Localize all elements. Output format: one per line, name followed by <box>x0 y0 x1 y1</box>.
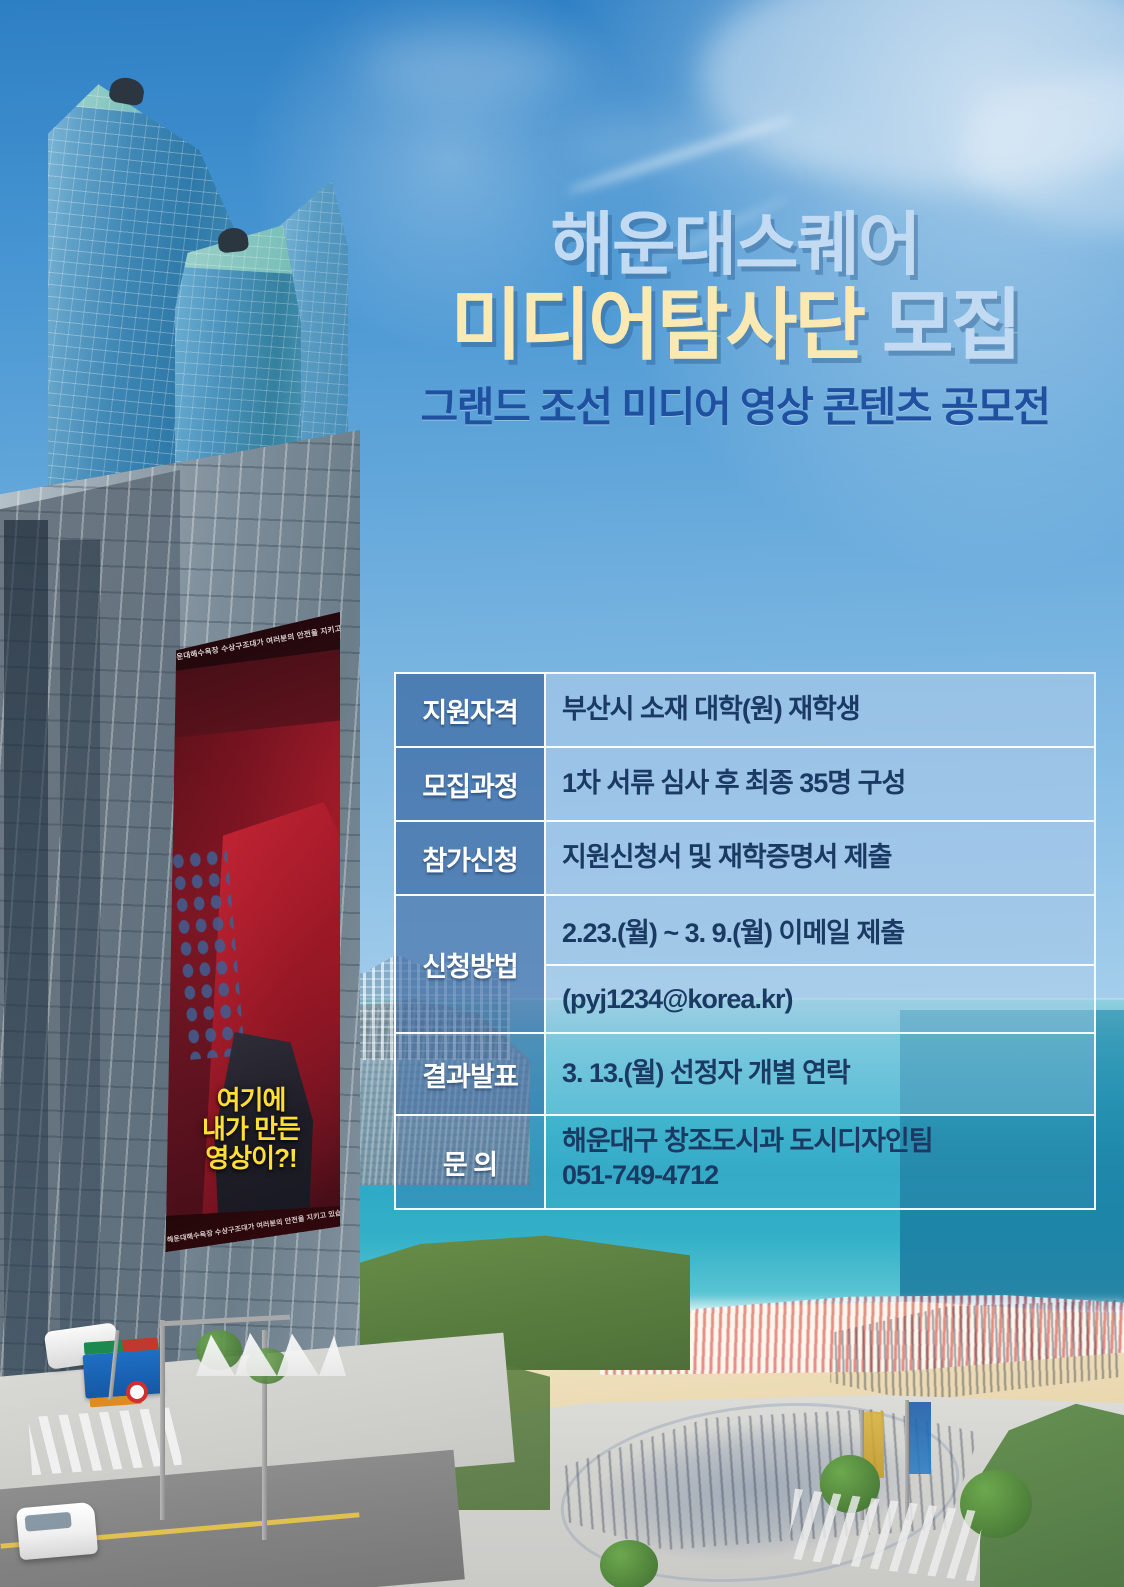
value-line: 지원신청서 및 재학증명서 제출 <box>562 841 1094 875</box>
value-line: 1차 서류 심사 후 최종 35명 구성 <box>562 767 1094 801</box>
white-van <box>16 1502 98 1561</box>
table-row-value: 부산시 소재 대학(원) 재학생 <box>546 674 1094 746</box>
headline-accent-text: 미디어탐사단 <box>451 281 864 369</box>
headline-subtitle: 그랜드 조선 미디어 영상 콘텐츠 공모전 <box>370 373 1100 433</box>
value-line-phone: 051-749-4712 <box>562 1159 1094 1193</box>
cta-line-2: 내가 만든 <box>160 1115 342 1144</box>
poster-headline: 해운대스퀘어 미디어탐사단 모집 그랜드 조선 미디어 영상 콘텐츠 공모전 <box>370 208 1100 433</box>
table-row-label: 지원자격 <box>396 674 546 746</box>
building-window-column <box>60 540 100 1400</box>
value-line: 2.23.(월) ~ 3. 9.(월) 이메일 제출 <box>546 896 1094 964</box>
poster-root: GUARD 해운대해수욕장 수상구조대가 여러분의 안전을 지키고 있습니다 해… <box>0 0 1124 1587</box>
table-row-value: 1차 서류 심사 후 최종 35명 구성 <box>546 748 1094 820</box>
table-row-label: 참가신청 <box>396 822 546 894</box>
table-row: 모집과정 1차 서류 심사 후 최종 35명 구성 <box>396 748 1094 822</box>
value-line: 해운대구 창조도시과 도시디자인팀 <box>562 1125 1094 1159</box>
cta-line-3: 영상이?! <box>160 1144 342 1173</box>
value-line: 3. 13.(월) 선정자 개별 연락 <box>562 1057 1094 1091</box>
table-row-label: 문 의 <box>396 1116 546 1208</box>
table-row-value: 3. 13.(월) 선정자 개별 연락 <box>546 1034 1094 1114</box>
headline-line-1: 해운대스퀘어 <box>370 208 1100 281</box>
street-light-pole <box>160 1320 165 1520</box>
building-window-column <box>4 520 48 1400</box>
headline-line-2: 미디어탐사단 모집 <box>370 283 1100 367</box>
crosswalk <box>28 1407 182 1475</box>
banner-flag <box>909 1402 931 1474</box>
table-row-label: 모집과정 <box>396 748 546 820</box>
headline-plain-text: 모집 <box>882 281 1020 369</box>
road-direction-sign <box>83 1349 164 1398</box>
table-row-value: 2.23.(월) ~ 3. 9.(월) 이메일 제출 (pyj1234@kore… <box>546 896 1094 1032</box>
value-line: 부산시 소재 대학(원) 재학생 <box>562 693 1094 727</box>
table-row-value: 해운대구 창조도시과 도시디자인팀 051-749-4712 <box>546 1116 1094 1208</box>
table-row: 문 의 해운대구 창조도시과 도시디자인팀 051-749-4712 <box>396 1116 1094 1208</box>
info-table: 지원자격 부산시 소재 대학(원) 재학생 모집과정 1차 서류 심사 후 최종… <box>394 672 1096 1210</box>
table-row-label: 신청방법 <box>396 896 546 1032</box>
cta-line-1: 여기에 <box>160 1086 342 1115</box>
table-row: 결과발표 3. 13.(월) 선정자 개별 연락 <box>396 1034 1094 1116</box>
billboard-call-to-action: 여기에 내가 만든 영상이?! <box>160 1086 342 1173</box>
tree <box>600 1540 658 1587</box>
cloud <box>360 30 580 100</box>
table-row-value: 지원신청서 및 재학증명서 제출 <box>546 822 1094 894</box>
table-row: 지원자격 부산시 소재 대학(원) 재학생 <box>396 674 1094 748</box>
table-row: 신청방법 2.23.(월) ~ 3. 9.(월) 이메일 제출 (pyj1234… <box>396 896 1094 1034</box>
table-row-label: 결과발표 <box>396 1034 546 1114</box>
value-line-email: (pyj1234@korea.kr) <box>546 964 1094 1032</box>
table-row: 참가신청 지원신청서 및 재학증명서 제출 <box>396 822 1094 896</box>
